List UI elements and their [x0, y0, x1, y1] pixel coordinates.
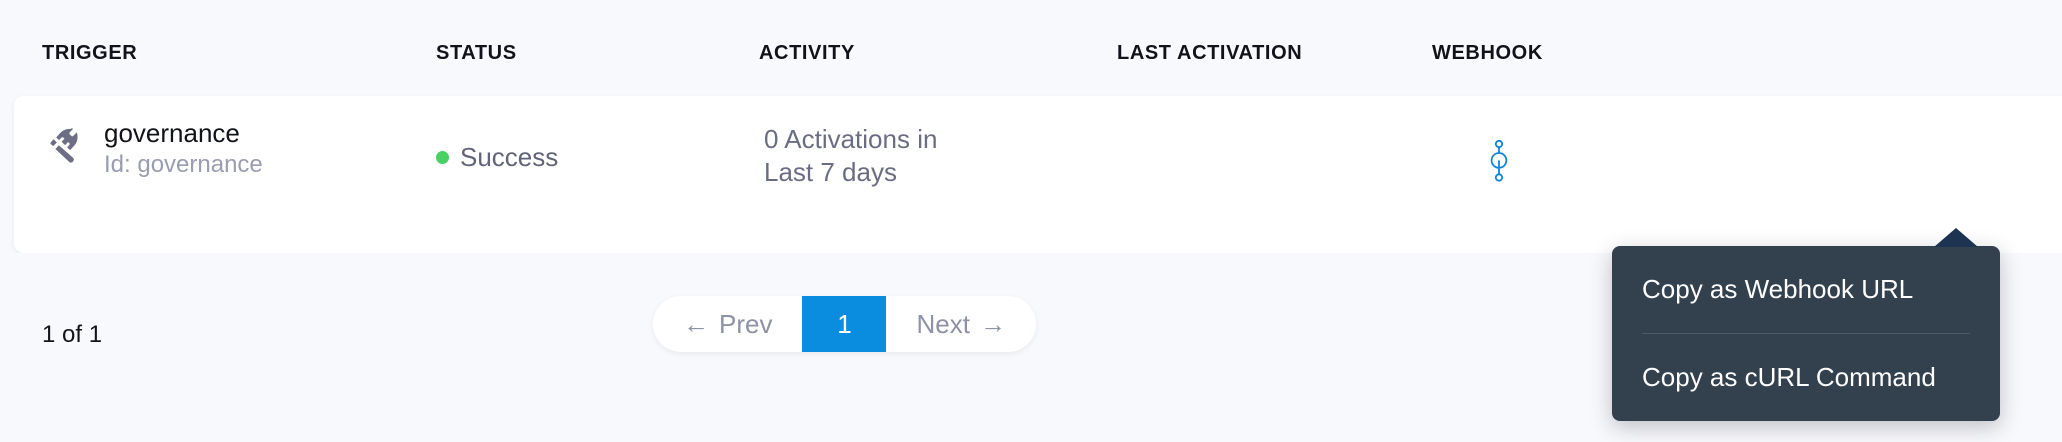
pagination-prev-button[interactable]: ← Prev: [653, 296, 802, 352]
table-header: TRIGGER STATUS ACTIVITY LAST ACTIVATION …: [0, 0, 2062, 94]
activity-line-1: 0 Activations in: [764, 123, 937, 156]
result-count-label: 1 of 1: [42, 321, 102, 349]
column-header-webhook: WEBHOOK: [1432, 42, 1543, 65]
pagination-next-button[interactable]: Next →: [886, 296, 1035, 352]
dropdown-arrow-icon: [1934, 228, 1978, 247]
column-header-activity: ACTIVITY: [759, 42, 855, 65]
trigger-id: Id: governance: [104, 150, 263, 179]
pagination-prev-label: Prev: [719, 309, 772, 340]
column-header-last-activation: LAST ACTIVATION: [1117, 42, 1302, 65]
activity-line-2: Last 7 days: [764, 156, 937, 189]
status-cell: Success: [436, 142, 558, 173]
activity-cell: 0 Activations in Last 7 days: [764, 123, 937, 188]
trigger-name: governance: [104, 118, 263, 150]
column-header-trigger: TRIGGER: [42, 42, 137, 65]
webhook-icon: [1486, 140, 1512, 182]
webhook-button[interactable]: [1454, 126, 1544, 196]
arrow-left-icon: ←: [683, 309, 709, 340]
hammer-icon: [42, 125, 88, 171]
trigger-cell[interactable]: governance Id: governance: [42, 118, 263, 179]
arrow-right-icon: →: [980, 309, 1006, 340]
column-header-status: STATUS: [436, 42, 517, 65]
pagination-page-1[interactable]: 1: [802, 296, 886, 352]
status-dot-icon: [436, 151, 449, 164]
table-row[interactable]: governance Id: governance Success 0 Acti…: [14, 96, 2062, 253]
pagination: ← Prev 1 Next →: [653, 296, 1036, 352]
status-label: Success: [460, 142, 558, 173]
pagination-next-label: Next: [916, 309, 969, 340]
menu-item-copy-webhook-url[interactable]: Copy as Webhook URL: [1612, 246, 2000, 333]
menu-item-copy-curl-command[interactable]: Copy as cURL Command: [1612, 334, 2000, 421]
webhook-context-menu[interactable]: Copy as Webhook URL Copy as cURL Command: [1612, 246, 2000, 421]
trigger-texts: governance Id: governance: [104, 118, 263, 179]
